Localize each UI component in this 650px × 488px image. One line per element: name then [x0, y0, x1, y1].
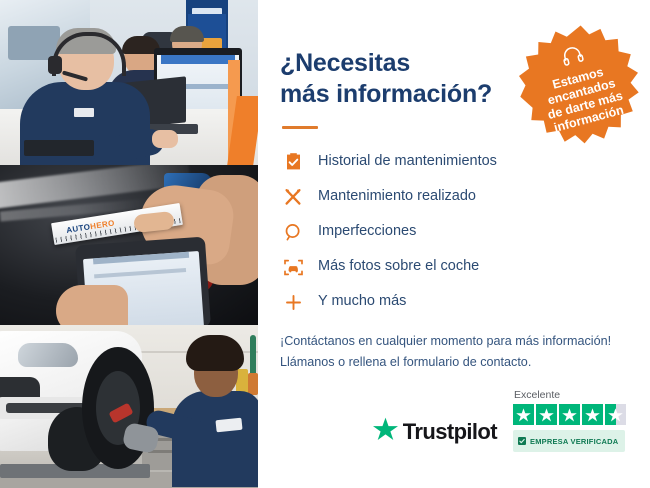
plus-icon	[280, 293, 306, 312]
car-inspection-ruler-photo: AUTOHERO	[0, 165, 258, 325]
mechanic-wheel-photo	[0, 325, 258, 488]
page-title: ¿Necesitas más información?	[280, 48, 510, 109]
star-filled	[536, 404, 557, 425]
feature-label: Mantenimiento realizado	[318, 188, 476, 205]
starburst-shape	[519, 24, 641, 148]
inspector-hand-holding-tablet	[56, 285, 128, 325]
trustpilot-wordmark: Trustpilot	[403, 419, 497, 445]
call-center-agents-photo	[0, 0, 258, 165]
star-filled	[559, 404, 580, 425]
status-badge: EMPRESA VERIFICADA	[513, 430, 625, 452]
help-starburst-badge: Estamos encantados de darte más informac…	[519, 24, 641, 148]
feature-list: Historial de mantenimientos Mantenimient…	[280, 151, 622, 313]
list-item: Y mucho más	[280, 291, 622, 313]
list-item: Mantenimiento realizado	[280, 186, 622, 208]
title-underline-rule	[282, 126, 318, 129]
information-request-banner: AUTOHERO	[0, 0, 650, 488]
contact-line-2: Llámanos o rellena el formulario de cont…	[280, 352, 622, 373]
contact-line-1: ¡Contáctanos en cualquier momento para m…	[280, 331, 622, 352]
trustpilot-widget[interactable]: Trustpilot Excelente	[280, 389, 626, 452]
trustpilot-rating-label: Excelente	[514, 389, 560, 401]
list-item: Más fotos sobre el coche	[280, 256, 622, 278]
car-headlight	[18, 343, 78, 367]
feature-label: Imperfecciones	[318, 223, 416, 240]
verified-check-icon	[518, 432, 526, 450]
star-filled	[582, 404, 603, 425]
list-item: Historial de mantenimientos	[280, 151, 622, 173]
trustpilot-rating-block: Excelente	[513, 389, 626, 452]
heading-line-1: ¿Necesitas	[280, 49, 410, 77]
feature-label: Más fotos sobre el coche	[318, 258, 479, 275]
heading-line-2: más información?	[280, 80, 492, 108]
tools-cross-icon	[280, 187, 306, 207]
feature-label: Y mucho más	[318, 293, 406, 310]
photo-column: AUTOHERO	[0, 0, 258, 488]
clipboard-check-icon	[280, 152, 306, 172]
feature-label: Historial de mantenimientos	[318, 153, 497, 170]
verified-label: EMPRESA VERIFICADA	[530, 437, 618, 446]
trustpilot-logo[interactable]: Trustpilot	[373, 417, 497, 452]
mechanic	[168, 335, 258, 485]
trustpilot-stars	[513, 404, 626, 425]
list-item: Imperfecciones	[280, 221, 622, 243]
desk-tablet	[24, 140, 94, 156]
trustpilot-star-icon	[373, 417, 398, 446]
contact-paragraph: ¡Contáctanos en cualquier momento para m…	[280, 331, 622, 373]
star-half	[605, 404, 626, 425]
content-panel: ¿Necesitas más información? Historial de…	[258, 0, 650, 488]
magnifier-icon	[280, 223, 306, 242]
car-focus-frame-icon	[280, 258, 306, 277]
star-filled	[513, 404, 534, 425]
